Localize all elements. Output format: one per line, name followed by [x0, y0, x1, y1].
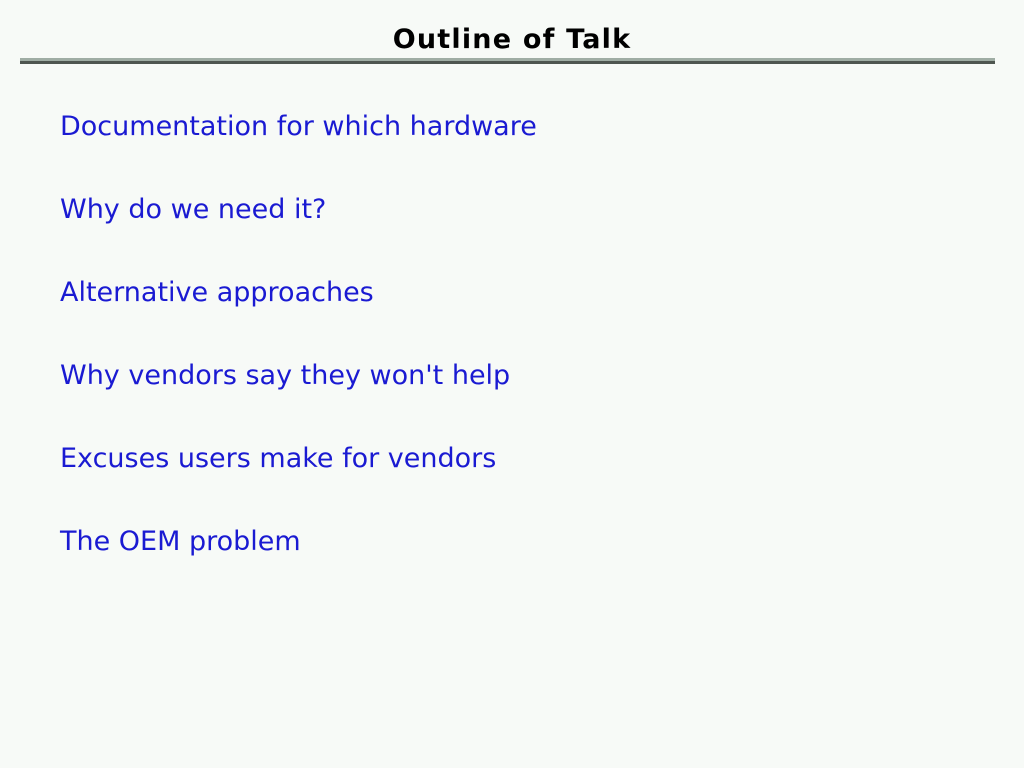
title-divider	[20, 58, 995, 64]
list-item: The OEM problem	[60, 525, 980, 608]
slide-canvas: Outline of Talk Documentation for which …	[0, 0, 1024, 768]
page-title: Outline of Talk	[0, 24, 1024, 56]
outline-list: Documentation for which hardware Why do …	[60, 110, 980, 608]
list-item: Documentation for which hardware	[60, 110, 980, 193]
list-item: Excuses users make for vendors	[60, 442, 980, 525]
list-item: Why do we need it?	[60, 193, 980, 276]
list-item: Alternative approaches	[60, 276, 980, 359]
title-divider-bottom-edge	[20, 61, 995, 64]
list-item: Why vendors say they won't help	[60, 359, 980, 442]
